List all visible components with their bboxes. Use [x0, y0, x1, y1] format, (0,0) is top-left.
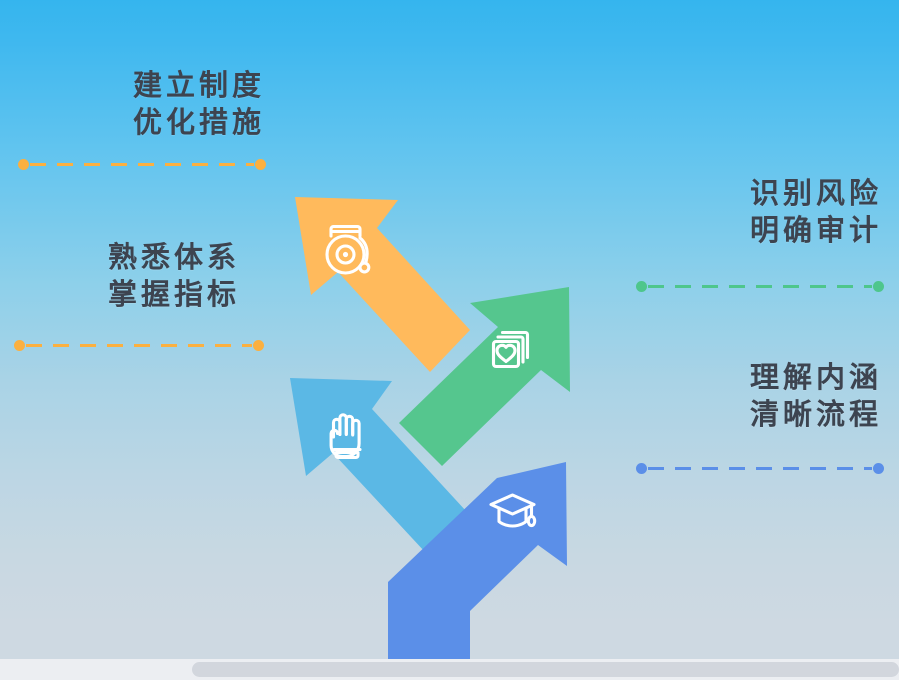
- label-line-2: 优化措施: [0, 105, 265, 142]
- connector-identify-risk: [636, 279, 884, 293]
- arrow-orange-shape: [295, 197, 470, 372]
- connector-dashes: [648, 285, 872, 288]
- label-establish-system: 建立制度 优化措施: [0, 68, 265, 142]
- label-identify-risk: 识别风险 明确审计: [610, 176, 882, 250]
- connector-dot-end: [253, 340, 264, 351]
- connector-dot-end: [255, 159, 266, 170]
- connector-dot-start: [18, 159, 29, 170]
- connector-establish-system: [18, 157, 266, 171]
- connector-dot-start: [636, 463, 647, 474]
- connector-familiar-system: [14, 338, 264, 352]
- connector-dashes: [26, 344, 252, 347]
- label-understand-meaning: 理解内涵 清晰流程: [610, 360, 882, 434]
- horizontal-scrollbar-track[interactable]: [0, 659, 899, 680]
- horizontal-scrollbar-thumb[interactable]: [192, 662, 899, 677]
- slide-canvas: 建立制度 优化措施 熟悉体系 掌握指标 识别风险 明确审计 理解内涵 清晰流程: [0, 0, 899, 680]
- connector-dot-start: [14, 340, 25, 351]
- label-line-2: 掌握指标: [0, 277, 240, 314]
- connector-dashes: [30, 163, 254, 166]
- connector-dot-start: [636, 281, 647, 292]
- label-familiar-system: 熟悉体系 掌握指标: [0, 240, 240, 314]
- label-line-1: 建立制度: [0, 68, 265, 105]
- label-line-2: 明确审计: [610, 213, 882, 250]
- label-line-1: 熟悉体系: [0, 240, 240, 277]
- connector-understand-meaning: [636, 461, 884, 475]
- connector-dashes: [648, 467, 872, 470]
- label-line-1: 理解内涵: [610, 360, 882, 397]
- label-line-2: 清晰流程: [610, 397, 882, 434]
- connector-dot-end: [873, 463, 884, 474]
- label-line-1: 识别风险: [610, 176, 882, 213]
- connector-dot-end: [873, 281, 884, 292]
- arrow-orange[interactable]: [295, 197, 470, 372]
